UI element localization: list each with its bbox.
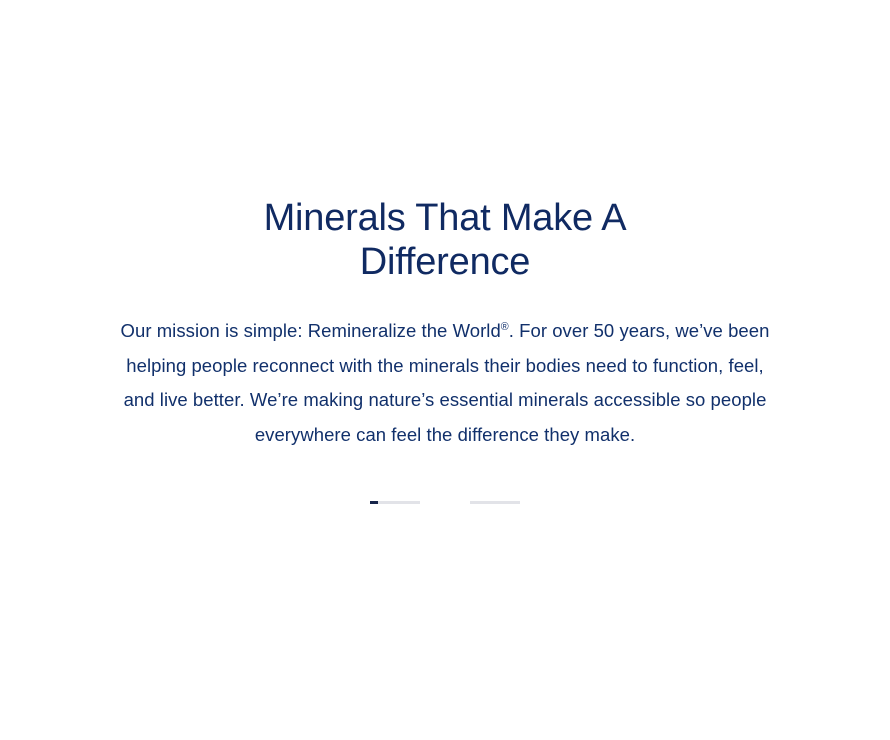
page-root: Minerals That Make A Difference Our miss… [0, 0, 890, 740]
carousel-progress-fill-slide-1 [370, 501, 378, 504]
mission-text-before-trademark: Our mission is simple: Remineralize the … [121, 320, 501, 341]
page-title: Minerals That Make A Difference [235, 196, 655, 284]
mission-paragraph: Our mission is simple: Remineralize the … [115, 284, 775, 452]
carousel-progress-slide-1[interactable] [370, 501, 420, 504]
carousel-pagination[interactable] [370, 501, 520, 504]
mission-section: Minerals That Make A Difference Our miss… [0, 0, 890, 740]
carousel-progress-slide-2[interactable] [470, 501, 520, 504]
registered-trademark-symbol: ® [501, 321, 509, 333]
